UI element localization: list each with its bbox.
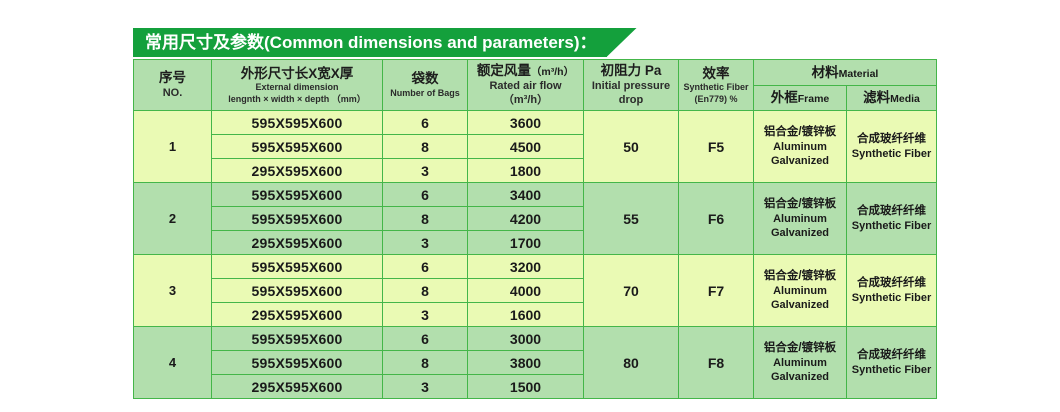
cell-efficiency: F6 (679, 183, 754, 255)
cell-pressure: 55 (584, 183, 679, 255)
cell-frame-material: 铝合金/镀锌板AluminumGalvanized (754, 327, 847, 399)
col-header-media-en: Media (890, 93, 920, 105)
cell-dimension: 295X595X600 (212, 231, 383, 255)
table-row: 1595X595X6006360050F5铝合金/镀锌板AluminumGalv… (134, 111, 937, 135)
cell-airflow: 3600 (468, 111, 584, 135)
cell-frame-material-cn: 铝合金/镀锌板 (754, 125, 846, 140)
parameters-table: 序号 NO. 外形尺寸长X宽X厚 External dimension leng… (133, 59, 937, 399)
cell-bags: 8 (383, 351, 468, 375)
table-row: 3595X595X6006320070F7铝合金/镀锌板AluminumGalv… (134, 255, 937, 279)
col-header-airflow-cn-line: 额定风量（m³/h） (470, 63, 581, 80)
section-title-body: 常用尺寸及参数(Common dimensions and parameters… (133, 28, 607, 57)
col-header-pressure-en1: Initial pressure (586, 80, 676, 94)
cell-dimension: 595X595X600 (212, 207, 383, 231)
cell-frame-material-en1: Aluminum (754, 140, 846, 154)
cell-bags: 6 (383, 255, 468, 279)
cell-frame-material-en2: Galvanized (754, 226, 846, 240)
cell-bags: 3 (383, 375, 468, 399)
cell-bags: 8 (383, 135, 468, 159)
cell-bags: 6 (383, 183, 468, 207)
col-header-bags-en: Number of Bags (385, 88, 465, 99)
col-header-frame: 外框Frame (754, 85, 847, 111)
section-title-arrow (607, 28, 637, 57)
col-header-material-en: Material (839, 68, 879, 80)
cell-media-material: 合成玻纤纤维Synthetic Fiber (847, 111, 937, 183)
cell-no: 3 (134, 255, 212, 327)
col-header-airflow-en1: Rated air flow (470, 80, 581, 94)
cell-media-material-cn: 合成玻纤纤维 (847, 132, 936, 147)
col-header-airflow-cn: 额定风量 (477, 63, 531, 78)
cell-no: 2 (134, 183, 212, 255)
section-title-banner: 常用尺寸及参数(Common dimensions and parameters… (133, 28, 637, 57)
col-header-efficiency: 效率 Synthetic Fiber (En779) % (679, 60, 754, 111)
cell-media-material-en: Synthetic Fiber (847, 363, 936, 377)
table-row: 4595X595X6006300080F8铝合金/镀锌板AluminumGalv… (134, 327, 937, 351)
cell-dimension: 595X595X600 (212, 279, 383, 303)
page-root: 常用尺寸及参数(Common dimensions and parameters… (0, 0, 1060, 412)
cell-bags: 3 (383, 303, 468, 327)
cell-airflow: 4500 (468, 135, 584, 159)
col-header-pressure: 初阻力 Pa Initial pressure drop (584, 60, 679, 111)
table-header-row-1: 序号 NO. 外形尺寸长X宽X厚 External dimension leng… (134, 60, 937, 86)
page-title: 常用尺寸及参数(Common dimensions and parameters… (145, 28, 597, 57)
cell-frame-material-cn: 铝合金/镀锌板 (754, 341, 846, 356)
col-header-airflow-en2: （m³/h） (470, 94, 581, 108)
cell-frame-material-en1: Aluminum (754, 356, 846, 370)
cell-airflow: 3000 (468, 327, 584, 351)
col-header-frame-cn: 外框 (771, 90, 798, 105)
cell-media-material: 合成玻纤纤维Synthetic Fiber (847, 327, 937, 399)
cell-frame-material-cn: 铝合金/镀锌板 (754, 269, 846, 284)
cell-efficiency: F5 (679, 111, 754, 183)
cell-airflow: 3800 (468, 351, 584, 375)
col-header-dimension-en2: lengnth × width × depth （mm） (214, 94, 380, 105)
cell-media-material-cn: 合成玻纤纤维 (847, 276, 936, 291)
cell-frame-material-en1: Aluminum (754, 284, 846, 298)
col-header-media-cn: 滤料 (863, 90, 890, 105)
cell-dimension: 595X595X600 (212, 135, 383, 159)
col-header-media-line: 滤料Media (849, 89, 934, 107)
col-header-bags-cn: 袋数 (385, 71, 465, 88)
cell-airflow: 4200 (468, 207, 584, 231)
col-header-pressure-en2: drop (586, 94, 676, 108)
cell-pressure: 50 (584, 111, 679, 183)
cell-bags: 3 (383, 159, 468, 183)
col-header-material-line: 材料Material (756, 64, 934, 82)
table-row: 2595X595X6006340055F6铝合金/镀锌板AluminumGalv… (134, 183, 937, 207)
cell-dimension: 295X595X600 (212, 159, 383, 183)
col-header-dimension: 外形尺寸长X宽X厚 External dimension lengnth × w… (212, 60, 383, 111)
cell-frame-material-en2: Galvanized (754, 370, 846, 384)
col-header-efficiency-cn: 效率 (681, 66, 751, 83)
cell-efficiency: F8 (679, 327, 754, 399)
cell-efficiency: F7 (679, 255, 754, 327)
col-header-airflow: 额定风量（m³/h） Rated air flow （m³/h） (468, 60, 584, 111)
cell-frame-material: 铝合金/镀锌板AluminumGalvanized (754, 255, 847, 327)
table-header: 序号 NO. 外形尺寸长X宽X厚 External dimension leng… (134, 60, 937, 111)
cell-dimension: 295X595X600 (212, 303, 383, 327)
cell-no: 1 (134, 111, 212, 183)
cell-airflow: 3200 (468, 255, 584, 279)
cell-pressure: 70 (584, 255, 679, 327)
cell-frame-material: 铝合金/镀锌板AluminumGalvanized (754, 183, 847, 255)
cell-media-material: 合成玻纤纤维Synthetic Fiber (847, 255, 937, 327)
cell-frame-material: 铝合金/镀锌板AluminumGalvanized (754, 111, 847, 183)
cell-pressure: 80 (584, 327, 679, 399)
cell-airflow: 1600 (468, 303, 584, 327)
col-header-pressure-cn: 初阻力 Pa (586, 63, 676, 80)
table-body: 1595X595X6006360050F5铝合金/镀锌板AluminumGalv… (134, 111, 937, 399)
cell-bags: 6 (383, 327, 468, 351)
cell-dimension: 595X595X600 (212, 183, 383, 207)
col-header-bags: 袋数 Number of Bags (383, 60, 468, 111)
col-header-dimension-en1: External dimension (214, 82, 380, 93)
cell-media-material: 合成玻纤纤维Synthetic Fiber (847, 183, 937, 255)
col-header-no-en: NO. (136, 87, 209, 101)
cell-no: 4 (134, 327, 212, 399)
cell-media-material-en: Synthetic Fiber (847, 219, 936, 233)
cell-dimension: 595X595X600 (212, 255, 383, 279)
cell-bags: 3 (383, 231, 468, 255)
cell-frame-material-cn: 铝合金/镀锌板 (754, 197, 846, 212)
cell-frame-material-en2: Galvanized (754, 298, 846, 312)
cell-frame-material-en1: Aluminum (754, 212, 846, 226)
col-header-frame-en: Frame (798, 93, 830, 105)
col-header-dimension-cn: 外形尺寸长X宽X厚 (214, 66, 380, 83)
cell-dimension: 295X595X600 (212, 375, 383, 399)
col-header-efficiency-en2: (En779) % (681, 94, 751, 105)
cell-airflow: 1500 (468, 375, 584, 399)
cell-media-material-en: Synthetic Fiber (847, 147, 936, 161)
col-header-no: 序号 NO. (134, 60, 212, 111)
col-header-no-cn: 序号 (136, 70, 209, 87)
cell-dimension: 595X595X600 (212, 351, 383, 375)
cell-media-material-cn: 合成玻纤纤维 (847, 348, 936, 363)
col-header-frame-line: 外框Frame (756, 89, 844, 107)
cell-dimension: 595X595X600 (212, 327, 383, 351)
cell-airflow: 1700 (468, 231, 584, 255)
col-header-airflow-unit: （m³/h） (531, 66, 574, 78)
cell-airflow: 1800 (468, 159, 584, 183)
cell-bags: 8 (383, 279, 468, 303)
col-header-material-cn: 材料 (812, 65, 839, 80)
col-header-media: 滤料Media (847, 85, 937, 111)
cell-bags: 6 (383, 111, 468, 135)
cell-media-material-cn: 合成玻纤纤维 (847, 204, 936, 219)
cell-dimension: 595X595X600 (212, 111, 383, 135)
cell-media-material-en: Synthetic Fiber (847, 291, 936, 305)
cell-frame-material-en2: Galvanized (754, 154, 846, 168)
col-header-efficiency-en1: Synthetic Fiber (681, 82, 751, 93)
col-header-material: 材料Material (754, 60, 937, 86)
cell-airflow: 4000 (468, 279, 584, 303)
cell-bags: 8 (383, 207, 468, 231)
cell-airflow: 3400 (468, 183, 584, 207)
